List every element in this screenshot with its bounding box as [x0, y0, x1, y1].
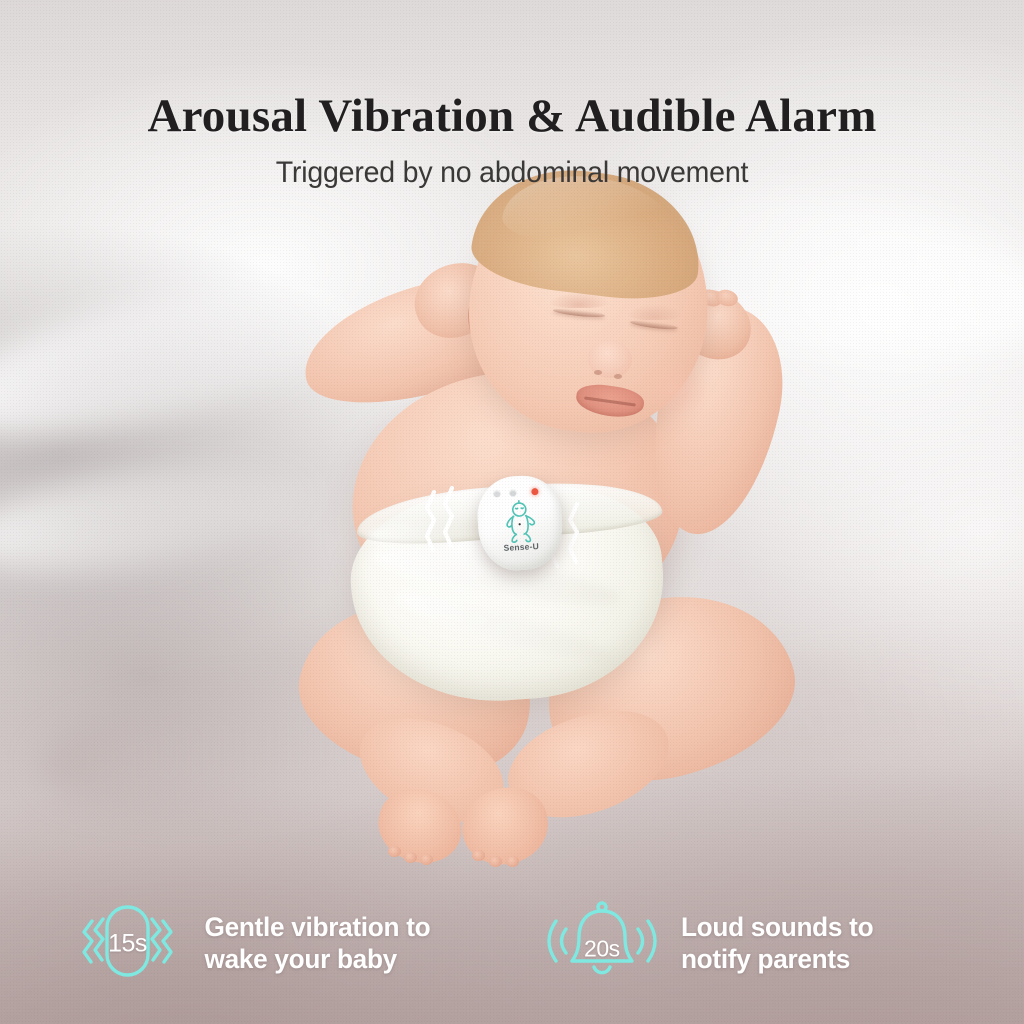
feature-vibration-label: Gentle vibration to wake your baby — [204, 912, 430, 975]
led-indicator-alarm-icon — [531, 488, 538, 495]
sense-u-baby-monitor-device[interactable]: Sense-U — [476, 474, 565, 572]
feature-vibration: 15s Gentle vibration to wake your baby — [70, 901, 434, 986]
feature-audible-alarm: 20s Loud sounds to notify parents — [542, 899, 876, 988]
vibration-duration-value: 15s — [70, 929, 185, 958]
page-title: Arousal Vibration & Audible Alarm — [0, 89, 1024, 143]
led-indicator-2-icon — [509, 489, 516, 496]
page-subtitle: Triggered by no abdominal movement — [26, 156, 999, 190]
device-brand-label: Sense-U — [479, 540, 563, 554]
bell-alarm-icon: 20s — [542, 899, 662, 988]
led-indicator-1-icon — [493, 490, 500, 497]
feature-alarm-label: Loud sounds to notify parents — [681, 912, 873, 975]
product-feature-banner: Sense-U Arousal Vibration & Audible Alar… — [0, 0, 1024, 1024]
baby-outline-icon — [493, 499, 547, 546]
feature-callout-row: 15s Gentle vibration to wake your baby 2… — [0, 899, 1024, 988]
vibration-timer-icon: 15s — [70, 901, 185, 986]
alarm-duration-value: 20s — [542, 935, 662, 962]
